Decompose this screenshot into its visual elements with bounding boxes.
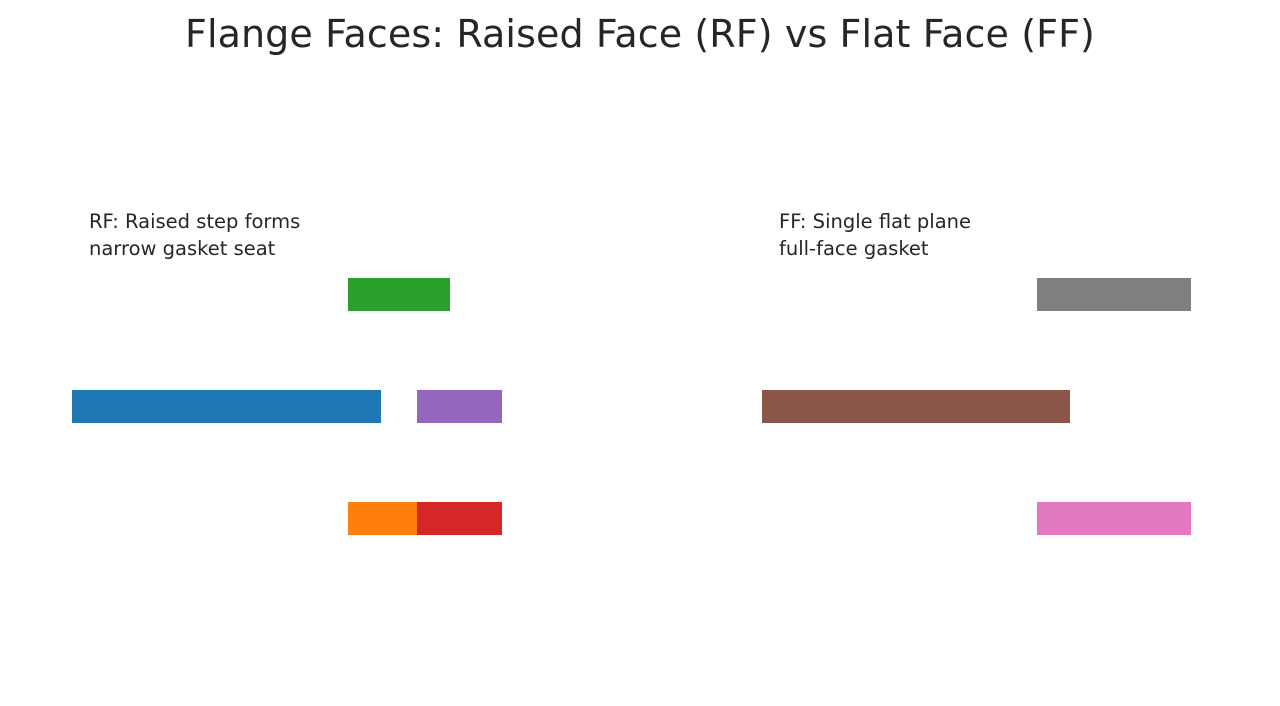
ff-flange-body-bar — [762, 390, 1070, 423]
figure-title: Flange Faces: Raised Face (RF) vs Flat F… — [0, 12, 1280, 56]
ff-bolt-backing-bar — [1037, 278, 1191, 311]
rf-mating-flange-bar — [417, 390, 502, 423]
ff-panel-caption: FF: Single flat plane full-face gasket — [779, 208, 971, 262]
rf-flange-body-bar — [72, 390, 381, 423]
rf-panel-caption: RF: Raised step forms narrow gasket seat — [89, 208, 300, 262]
rf-raised-face-step-bar — [348, 502, 417, 535]
flange-face-diagram-figure: Flange Faces: Raised Face (RF) vs Flat F… — [0, 0, 1280, 706]
ff-full-face-gasket-bar — [1037, 502, 1191, 535]
rf-bolt-backing-bar — [348, 278, 450, 311]
rf-narrow-gasket-seat-bar — [417, 502, 502, 535]
